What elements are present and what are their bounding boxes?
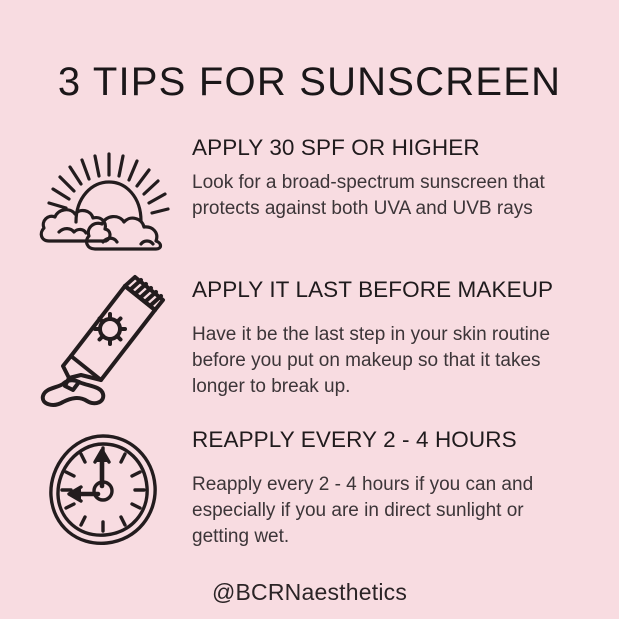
tip-3-body-line-3: getting wet. bbox=[192, 524, 592, 550]
sunscreen-tube-icon bbox=[41, 274, 165, 400]
tip-2-body-line-1: Have it be the last step in your skin ro… bbox=[192, 322, 592, 348]
tip-2-body-line-2: before you put on makeup so that it take… bbox=[192, 348, 592, 374]
tip-3-text-slot: REAPPLY EVERY 2 - 4 HOURS Reapply every … bbox=[192, 426, 592, 550]
tip-1-text-slot: APPLY 30 SPF OR HIGHER Look for a broad-… bbox=[192, 134, 592, 222]
tip-2-heading: APPLY IT LAST BEFORE MAKEUP bbox=[192, 276, 592, 303]
tip-1-body-line-2: protects against both UVA and UVB rays bbox=[192, 196, 592, 222]
tip-3-body-line-1: Reapply every 2 - 4 hours if you can and bbox=[192, 472, 592, 498]
clock-icon bbox=[45, 430, 161, 550]
page-title: 3 TIPS FOR SUNSCREEN bbox=[0, 58, 619, 106]
tip-1-heading: APPLY 30 SPF OR HIGHER bbox=[192, 134, 592, 161]
tip-3-icon-slot bbox=[28, 430, 178, 550]
tip-3-body-line-2: especially if you are in direct sunlight… bbox=[192, 498, 592, 524]
tip-2-text-slot: APPLY IT LAST BEFORE MAKEUP Have it be t… bbox=[192, 276, 592, 400]
sunscreen-tips-poster: 3 TIPS FOR SUNSCREEN bbox=[0, 0, 619, 619]
tip-2-body-line-3: longer to break up. bbox=[192, 374, 592, 400]
sun-behind-clouds-icon bbox=[37, 142, 169, 252]
tip-1-body-line-1: Look for a broad-spectrum sunscreen that bbox=[192, 170, 592, 196]
tip-2-icon-slot bbox=[28, 274, 178, 394]
tip-3-body: Reapply every 2 - 4 hours if you can and… bbox=[192, 472, 592, 550]
tip-2-body: Have it be the last step in your skin ro… bbox=[192, 322, 592, 400]
social-handle: @BCRNaesthetics bbox=[0, 578, 619, 606]
tip-1-body: Look for a broad-spectrum sunscreen that… bbox=[192, 170, 592, 222]
tip-3-heading: REAPPLY EVERY 2 - 4 HOURS bbox=[192, 426, 592, 453]
tip-1-icon-slot bbox=[28, 142, 178, 262]
